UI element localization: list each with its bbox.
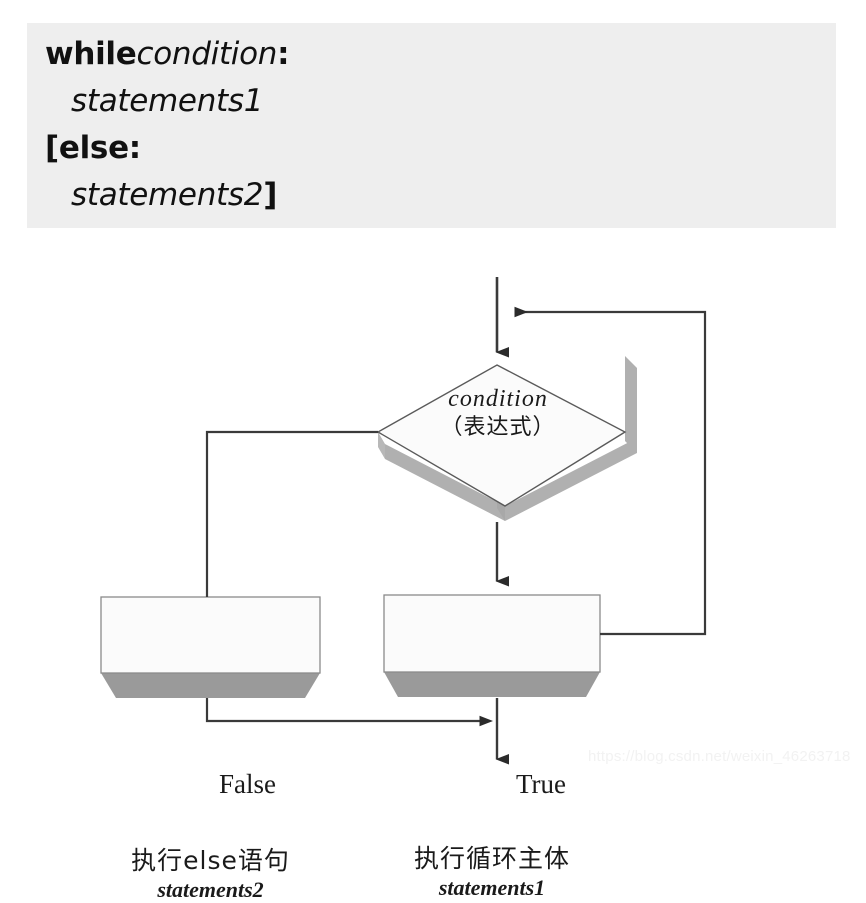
- body-box-label-cn: 执行循环主体: [384, 842, 600, 875]
- closing-bracket: ]: [263, 177, 277, 213]
- false-branch-label: False: [219, 769, 276, 800]
- code-line-else: [else:: [45, 125, 836, 172]
- while-loop-flowchart: condition （表达式） 执行else语句 statements2 执行循…: [0, 240, 866, 779]
- syntax-code-block: whilecondition: statements1 [else: state…: [27, 23, 836, 228]
- body-box-shadow: [384, 672, 600, 697]
- keyword-else: [else:: [45, 130, 141, 166]
- keyword-while: while: [45, 36, 137, 72]
- merge-edge: [207, 698, 480, 721]
- else-box-label-en: statements2: [101, 877, 320, 903]
- body-box-label-en: statements1: [384, 875, 600, 901]
- else-process-box: [101, 597, 320, 673]
- placeholder-statements2: statements2: [71, 177, 263, 213]
- watermark-text: https://blog.csdn.net/weixin_46263718: [588, 748, 851, 765]
- placeholder-condition: condition: [137, 36, 278, 72]
- body-box-label: 执行循环主体 statements1: [384, 842, 600, 901]
- else-box-label-cn: 执行else语句: [101, 844, 320, 877]
- flowchart-canvas: [0, 240, 866, 779]
- body-process-box: [384, 595, 600, 672]
- else-box-shadow: [101, 673, 320, 698]
- code-line-statements2: statements2]: [45, 172, 836, 219]
- decision-diamond: [378, 365, 625, 506]
- colon-1: :: [277, 36, 289, 72]
- true-branch-label: True: [516, 769, 566, 800]
- false-branch-edge: [207, 432, 378, 597]
- code-line-statements1: statements1: [45, 78, 836, 125]
- else-box-label: 执行else语句 statements2: [101, 844, 320, 903]
- code-line-while: whilecondition:: [45, 31, 836, 78]
- placeholder-statements1: statements1: [71, 83, 263, 119]
